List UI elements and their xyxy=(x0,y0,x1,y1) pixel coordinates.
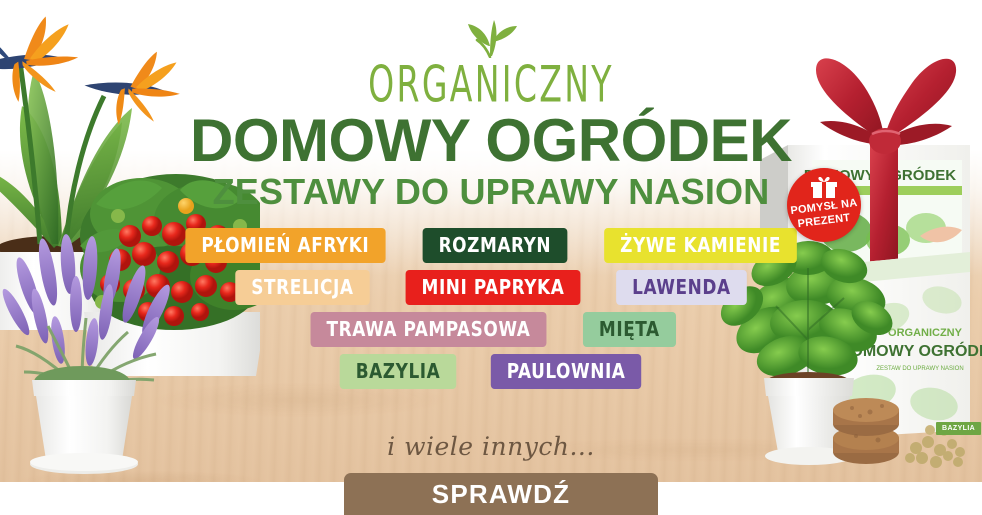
seed-kit-tag[interactable]: ŻYWE KAMIENIE xyxy=(604,228,797,263)
seed-kit-tag[interactable]: BAZYLIA xyxy=(340,354,457,389)
headline-title: DOMOWY OGRÓDEK xyxy=(0,112,982,171)
check-it-out-button[interactable]: SPRAWDŹ xyxy=(344,473,658,515)
seed-kit-tag-list: PŁOMIEŃ AFRYKIROZMARYNŻYWE KAMIENIESTREL… xyxy=(0,228,982,396)
gift-idea-badge[interactable]: POMYSŁ NA PREZENT xyxy=(787,168,861,242)
promo-banner: DOMOWY OGRÓDEK ORGANICZNY DOMOWY OGRÓDEK… xyxy=(0,0,982,515)
product-mini-label: BAZYLIA xyxy=(936,422,981,435)
tag-row: BAZYLIAPAULOWNIA xyxy=(0,354,982,389)
seed-kit-tag[interactable]: PŁOMIEŃ AFRYKI xyxy=(186,228,386,263)
seed-kit-tag[interactable]: TRAWA PAMPASOWA xyxy=(311,312,547,347)
seed-kit-tag[interactable]: LAWENDA xyxy=(616,270,746,305)
seed-kit-tag[interactable]: MIĘTA xyxy=(583,312,676,347)
seed-kit-tag[interactable]: STRELICJA xyxy=(236,270,370,305)
gift-box-icon xyxy=(811,177,837,199)
tag-row: TRAWA PAMPASOWAMIĘTA xyxy=(0,312,982,347)
seed-kit-tag[interactable]: PAULOWNIA xyxy=(491,354,642,389)
seed-kit-tag[interactable]: ROZMARYN xyxy=(423,228,567,263)
tag-row: STRELICJAMINI PAPRYKALAWENDA xyxy=(0,270,982,305)
headline-kicker: ORGANICZNY xyxy=(39,60,942,110)
sprout-leaves-icon xyxy=(463,16,519,58)
seed-kit-tag[interactable]: MINI PAPRYKA xyxy=(406,270,581,305)
more-items-text: i wiele innych... xyxy=(0,432,982,461)
